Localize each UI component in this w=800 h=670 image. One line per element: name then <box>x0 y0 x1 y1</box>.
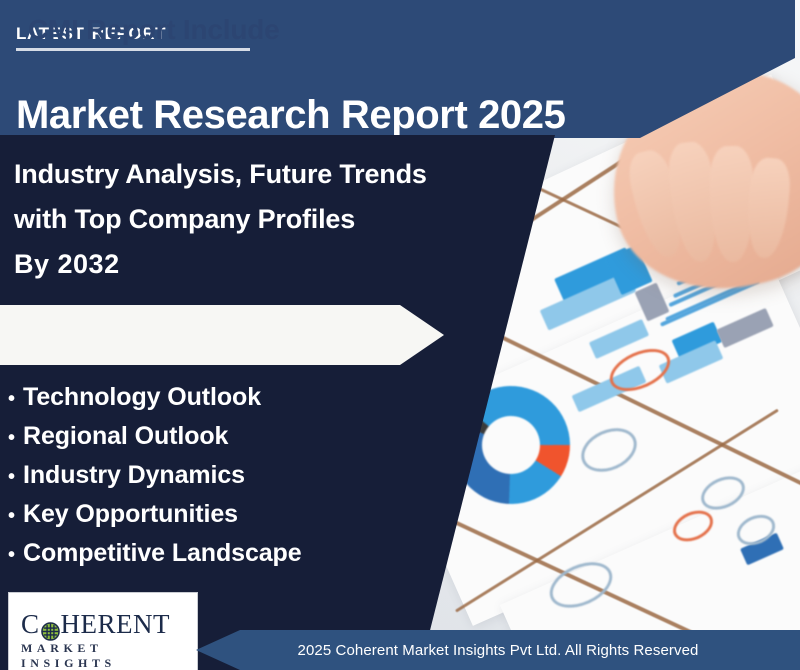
subtitle-line-1: Industry Analysis, Future Trends <box>14 152 427 197</box>
bullet-icon: • <box>8 545 23 565</box>
subtitle-line-2: with Top Company Profiles <box>14 197 427 242</box>
report-include-label: CMI Report Include <box>28 0 280 60</box>
footer-bar: 2025 Coherent Market Insights Pvt Ltd. A… <box>196 630 800 670</box>
report-include-badge <box>0 305 444 365</box>
list-item-label: Technology Outlook <box>23 383 261 412</box>
list-item-label: Industry Dynamics <box>23 461 245 490</box>
list-item: • Competitive Landscape <box>8 539 428 578</box>
subtitle-block: Industry Analysis, Future Trends with To… <box>14 152 427 287</box>
list-item-label: Key Opportunities <box>23 500 238 529</box>
bullet-icon: • <box>8 467 23 487</box>
list-item: • Regional Outlook <box>8 422 428 461</box>
copyright-text: 2025 Coherent Market Insights Pvt Ltd. A… <box>196 630 800 670</box>
feature-list: • Technology Outlook • Regional Outlook … <box>8 383 428 578</box>
report-banner: Latest Report Market Research Report 202… <box>0 0 800 670</box>
list-item: • Key Opportunities <box>8 500 428 539</box>
logo-wordmark-after: HERENT <box>61 609 170 640</box>
bullet-icon: • <box>8 506 23 526</box>
list-item: • Industry Dynamics <box>8 461 428 500</box>
logo-wordmark-before: C <box>21 609 40 640</box>
page-title: Market Research Report 2025 <box>16 93 565 138</box>
bullet-icon: • <box>8 389 23 409</box>
list-item-label: Regional Outlook <box>23 422 228 451</box>
bullet-icon: • <box>8 428 23 448</box>
logo: C HERENT MARKET INSIGHTS <box>8 592 198 670</box>
logo-wordmark: C HERENT <box>21 609 170 640</box>
list-item: • Technology Outlook <box>8 383 428 422</box>
globe-grid-icon <box>41 617 60 636</box>
list-item-label: Competitive Landscape <box>23 539 302 568</box>
logo-tagline: MARKET INSIGHTS <box>21 641 197 670</box>
subtitle-line-3: By 2032 <box>14 242 427 287</box>
